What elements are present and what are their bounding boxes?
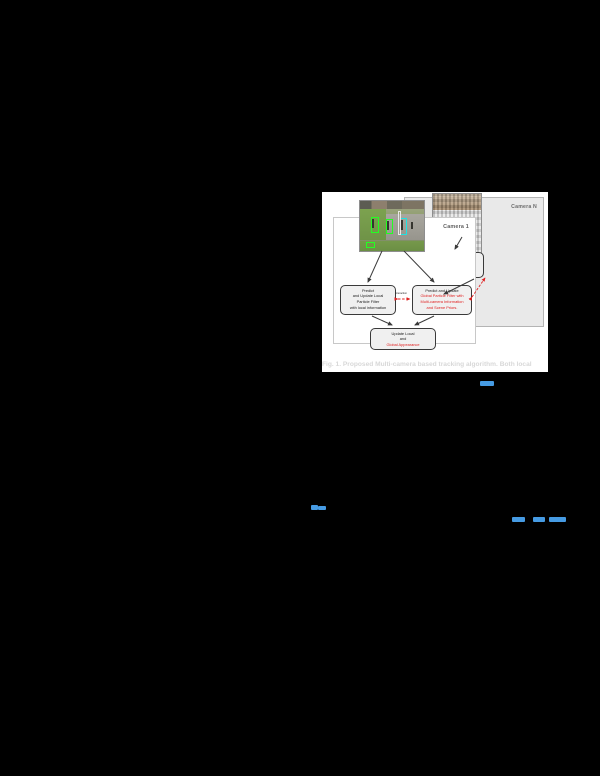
inline-link-1[interactable] xyxy=(480,381,494,386)
inline-link-5[interactable] xyxy=(533,517,545,522)
figure-proposed-algorithm: Camera N Predict and Update Global Parti… xyxy=(322,192,548,372)
inline-link-6[interactable] xyxy=(549,517,566,522)
inline-link-3[interactable] xyxy=(318,506,326,510)
inline-link-2[interactable] xyxy=(311,505,318,510)
inline-link-4[interactable] xyxy=(512,517,525,522)
figure-caption: Fig. 1. Proposed Multi-camera based trac… xyxy=(322,360,550,373)
figure-arrows xyxy=(322,192,548,372)
document-page: Camera N Predict and Update Global Parti… xyxy=(0,0,600,776)
